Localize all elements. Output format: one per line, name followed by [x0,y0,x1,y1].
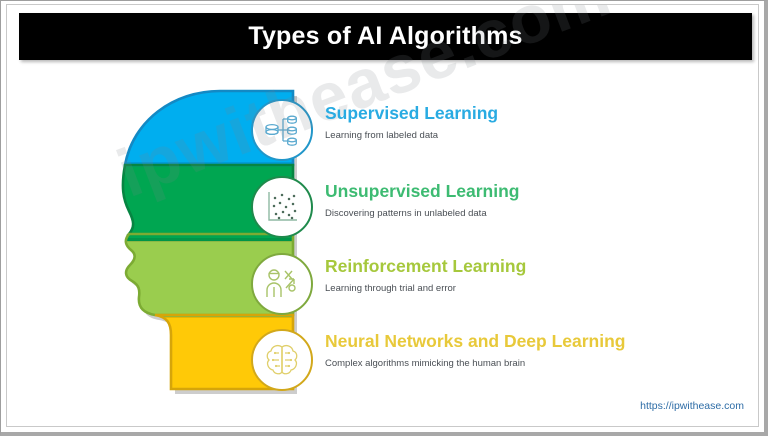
slide-frame: Types of AI Algorithms ipwithease.com [0,0,768,436]
section-subtitle: Learning through trial and error [325,283,745,294]
section-subtitle: Discovering patterns in unlabeled data [325,208,745,219]
section-unsupervised: Unsupervised Learning Discovering patter… [325,181,745,220]
database-branch-icon [262,110,302,150]
scatter-plot-icon [262,187,302,227]
title-banner: Types of AI Algorithms [19,13,752,60]
section-neural: Neural Networks and Deep Learning Comple… [325,331,745,370]
icon-badge-supervised [251,99,313,161]
section-reinforcement: Reinforcement Learning Learning through … [325,256,745,295]
section-supervised: Supervised Learning Learning from labele… [325,103,745,142]
icon-badge-neural [251,329,313,391]
icon-badge-reinforcement [251,253,313,315]
footer-url-link[interactable]: https://ipwithease.com [640,400,744,412]
section-heading: Neural Networks and Deep Learning [325,331,745,351]
icon-badge-unsupervised [251,176,313,238]
slide-canvas: Types of AI Algorithms ipwithease.com [6,4,759,427]
brain-icon [262,340,302,380]
section-heading: Reinforcement Learning [325,256,745,276]
section-heading: Unsupervised Learning [325,181,745,201]
person-strategy-icon [261,263,303,305]
page-title: Types of AI Algorithms [248,22,522,51]
infographic-body: Supervised Learning Learning from labele… [7,63,759,403]
section-subtitle: Complex algorithms mimicking the human b… [325,358,745,369]
section-heading: Supervised Learning [325,103,745,123]
section-subtitle: Learning from labeled data [325,130,745,141]
